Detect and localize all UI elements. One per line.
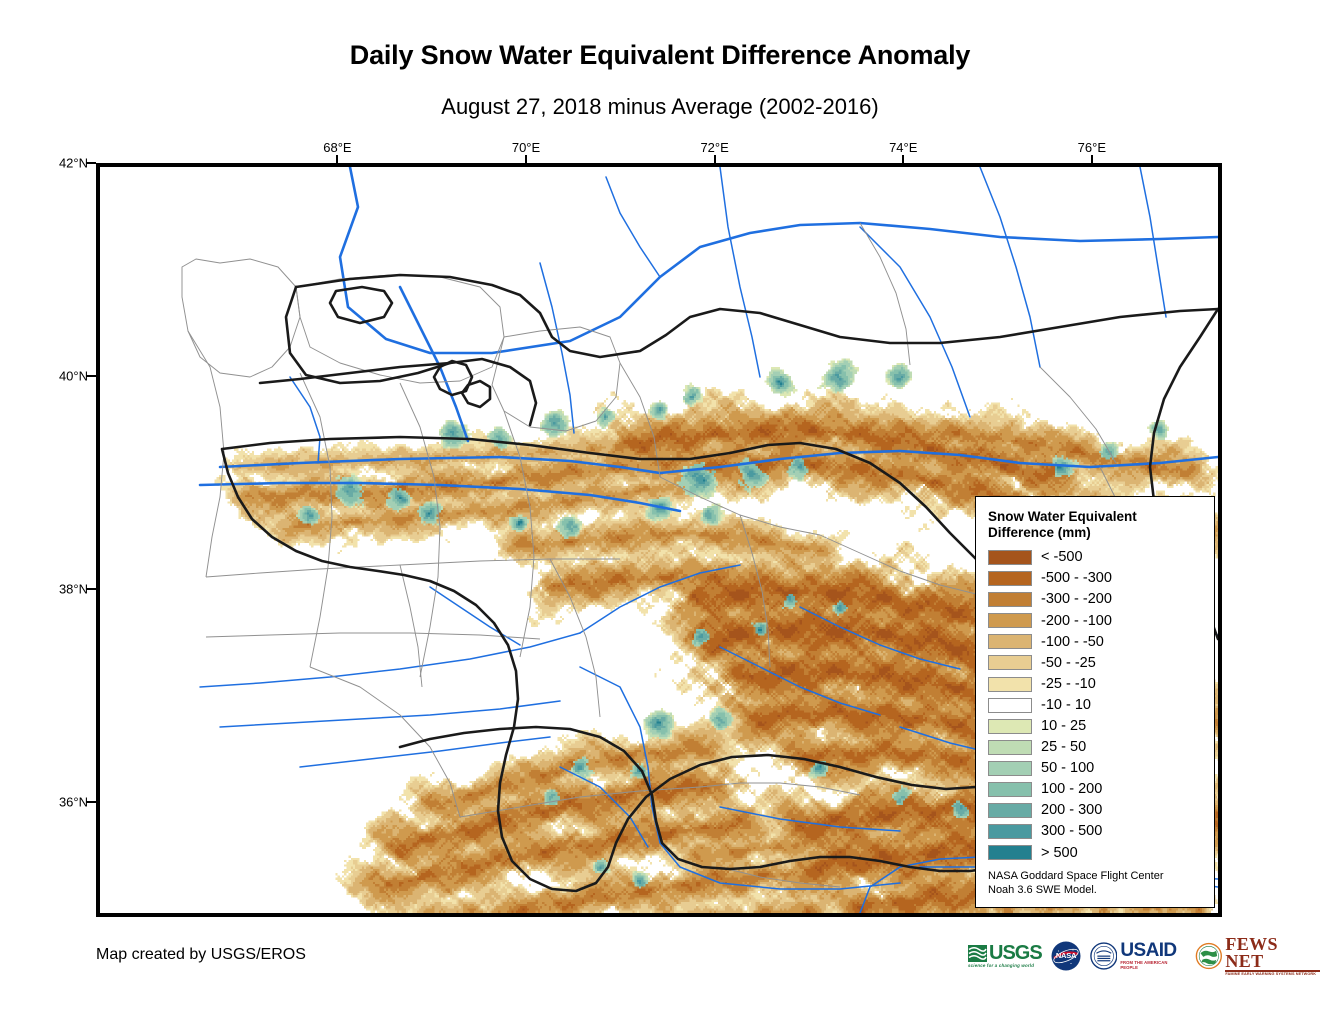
legend-label: -25 - -10 [1041, 677, 1096, 692]
logo-strip: USGS science for a changing world NASA [968, 936, 1320, 976]
lat-tick-label: 36°N [40, 794, 88, 809]
admin-boundary [188, 331, 224, 577]
legend-entry: -500 - -300 [988, 568, 1204, 589]
legend-swatch [988, 782, 1032, 797]
lat-tick-label: 38°N [40, 581, 88, 596]
legend-entry: 10 - 25 [988, 716, 1204, 737]
legend-swatch [988, 571, 1032, 586]
legend-label: > 500 [1041, 846, 1078, 861]
legend-entry: -50 - -25 [988, 652, 1204, 673]
legend-swatch [988, 613, 1032, 628]
legend-entry: < -500 [988, 547, 1204, 568]
usgs-logo: USGS science for a changing world [968, 936, 1042, 976]
legend-entry-list: < -500-500 - -300-300 - -200-200 - -100-… [988, 547, 1204, 863]
legend-swatch [988, 677, 1032, 692]
river-line [860, 227, 970, 417]
legend-entry: -200 - -100 [988, 610, 1204, 631]
lon-tick-label: 68°E [323, 140, 351, 155]
legend-entry: 50 - 100 [988, 758, 1204, 779]
lon-tick-label: 72°E [700, 140, 728, 155]
lat-tick-label: 40°N [40, 368, 88, 383]
fewsnet-globe-icon [1195, 942, 1223, 970]
lat-tick-mark [86, 162, 96, 164]
lat-tick-mark [86, 588, 96, 590]
usgs-tagline: science for a changing world [968, 963, 1042, 968]
legend-panel: Snow Water Equivalent Difference (mm) < … [975, 496, 1215, 908]
legend-label: -500 - -300 [1041, 571, 1112, 586]
usaid-wordmark: USAID [1120, 942, 1185, 960]
usaid-logo: USAID FROM THE AMERICAN PEOPLE [1090, 936, 1186, 976]
legend-swatch [988, 824, 1032, 839]
map-page: Daily Snow Water Equivalent Difference A… [0, 0, 1320, 1020]
legend-swatch [988, 719, 1032, 734]
legend-swatch [988, 550, 1032, 565]
lon-tick-label: 76°E [1078, 140, 1106, 155]
legend-swatch [988, 655, 1032, 670]
lon-tick-label: 70°E [512, 140, 540, 155]
river-line [220, 701, 560, 727]
legend-label: -50 - -25 [1041, 656, 1096, 671]
legend-swatch [988, 803, 1032, 818]
legend-source-line1: NASA Goddard Space Flight Center [988, 869, 1204, 883]
legend-entry: -100 - -50 [988, 631, 1204, 652]
nasa-meatball-icon: NASA [1051, 941, 1081, 971]
legend-label: 10 - 25 [1041, 719, 1086, 734]
fewsnet-text-block: FEWS NET FAMINE EARLY WARNING SYSTEMS NE… [1225, 936, 1320, 976]
usgs-mark: USGS science for a changing world [968, 945, 1042, 968]
usaid-text-block: USAID FROM THE AMERICAN PEOPLE [1120, 942, 1185, 970]
legend-title-line2: Difference (mm) [988, 525, 1204, 541]
svg-text:NASA: NASA [1056, 951, 1077, 960]
admin-boundary [206, 633, 540, 639]
legend-entry: 25 - 50 [988, 737, 1204, 758]
lat-tick-mark [86, 375, 96, 377]
legend-label: -200 - -100 [1041, 614, 1112, 629]
legend-swatch [988, 761, 1032, 776]
map-credit: Map created by USGS/EROS [96, 946, 306, 964]
legend-label: -10 - 10 [1041, 698, 1091, 713]
fewsnet-tagline: FAMINE EARLY WARNING SYSTEMS NETWORK [1225, 972, 1320, 976]
usaid-seal-icon [1090, 942, 1118, 970]
legend-swatch [988, 845, 1032, 860]
legend-title: Snow Water Equivalent Difference (mm) [988, 509, 1204, 542]
legend-label: 300 - 500 [1041, 824, 1102, 839]
legend-entry: > 500 [988, 842, 1204, 863]
river-line [1140, 167, 1166, 317]
river-line [720, 167, 760, 377]
legend-label: 25 - 50 [1041, 740, 1086, 755]
lat-tick-label: 42°N [40, 156, 88, 171]
legend-label: 200 - 300 [1041, 803, 1102, 818]
usgs-top-row: USGS [968, 945, 1042, 962]
river-line [540, 263, 574, 433]
legend-swatch [988, 740, 1032, 755]
legend-label: < -500 [1041, 550, 1083, 565]
page-title: Daily Snow Water Equivalent Difference A… [0, 40, 1320, 71]
legend-swatch [988, 592, 1032, 607]
legend-swatch [988, 698, 1032, 713]
legend-label: -100 - -50 [1041, 635, 1104, 650]
usgs-wordmark: USGS [989, 945, 1042, 962]
legend-source-line2: Noah 3.6 SWE Model. [988, 883, 1204, 897]
country-border [296, 275, 1218, 357]
legend-source: NASA Goddard Space Flight Center Noah 3.… [988, 869, 1204, 897]
legend-entry: -10 - 10 [988, 695, 1204, 716]
legend-swatch [988, 634, 1032, 649]
river-line [606, 177, 660, 277]
legend-entry: 200 - 300 [988, 800, 1204, 821]
legend-entry: -300 - -200 [988, 589, 1204, 610]
legend-label: 100 - 200 [1041, 782, 1102, 797]
lon-tick-label: 74°E [889, 140, 917, 155]
fewsnet-logo: FEWS NET FAMINE EARLY WARNING SYSTEMS NE… [1195, 936, 1320, 976]
fewsnet-wordmark: FEWS NET [1225, 936, 1320, 970]
legend-entry: 100 - 200 [988, 779, 1204, 800]
legend-label: 50 - 100 [1041, 761, 1094, 776]
legend-title-line1: Snow Water Equivalent [988, 509, 1204, 525]
usgs-wave-icon [968, 945, 987, 962]
river-line [340, 167, 1218, 353]
legend-entry: -25 - -10 [988, 674, 1204, 695]
nasa-logo: NASA [1051, 936, 1081, 976]
country-border [462, 381, 490, 407]
page-subtitle: August 27, 2018 minus Average (2002-2016… [0, 94, 1320, 120]
lat-tick-mark [86, 801, 96, 803]
legend-label: -300 - -200 [1041, 592, 1112, 607]
usaid-tagline: FROM THE AMERICAN PEOPLE [1120, 960, 1185, 970]
legend-entry: 300 - 500 [988, 821, 1204, 842]
admin-boundary [182, 259, 300, 377]
